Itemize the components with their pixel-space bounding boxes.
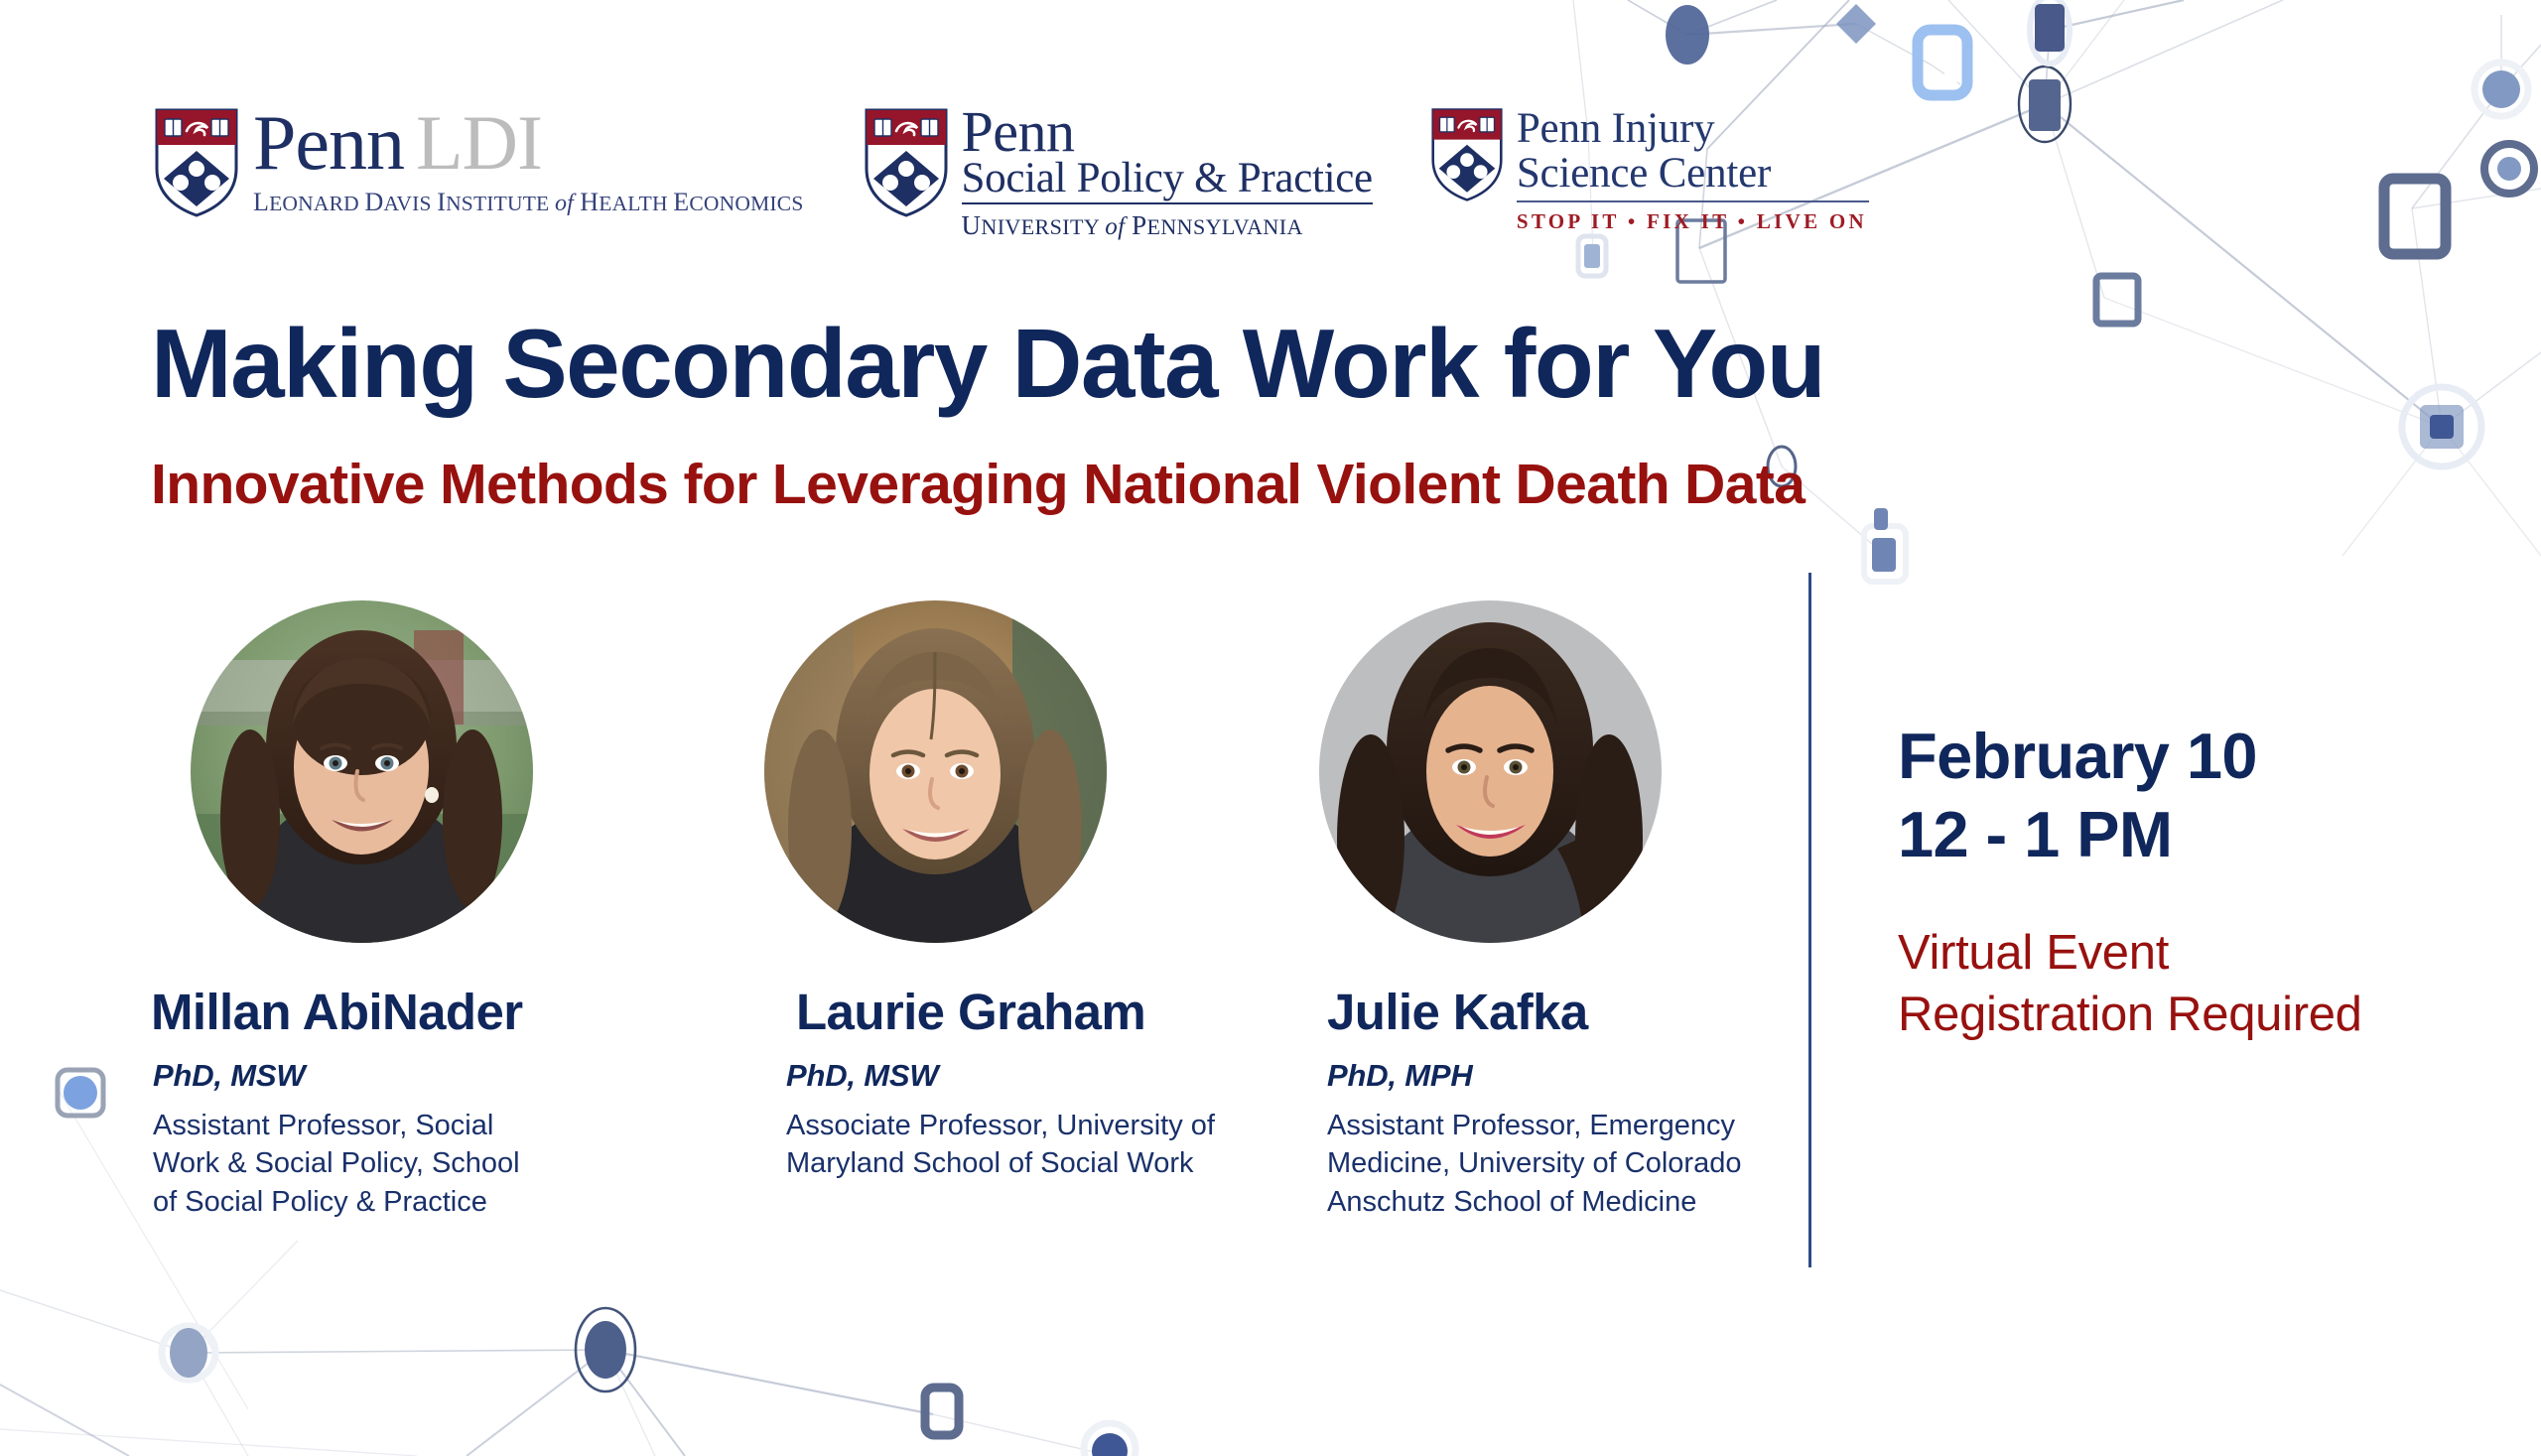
spp-university-line: UNIVERSITY of PENNSYLVANIA [962, 210, 1373, 241]
event-details: February 10 12 - 1 PM Virtual Event Regi… [1898, 717, 2362, 1046]
penn-social-policy-practice-logo[interactable]: Penn Social Policy & Practice UNIVERSITY… [864, 107, 1373, 241]
speaker-degree: PhD, MSW [786, 1058, 1287, 1094]
avatar [1319, 600, 1662, 943]
event-time: 12 - 1 PM [1898, 795, 2362, 873]
speaker-degree: PhD, MPH [1327, 1058, 1804, 1094]
speaker-name: Laurie Graham [796, 983, 1287, 1041]
penn-shield-icon [864, 107, 949, 223]
speaker-affiliation: Assistant Professor, Emergency Medicine,… [1327, 1107, 1794, 1221]
event-format: Virtual Event [1898, 922, 2362, 985]
speaker-name: Millan AbiNader [151, 983, 727, 1041]
ldi-wordmark-ldi: LDI [416, 99, 542, 186]
spp-wordmark-unit: Social Policy & Practice [962, 157, 1373, 204]
speaker-card: Julie Kafka PhD, MPH Assistant Professor… [1287, 600, 1804, 1221]
page-title: Making Secondary Data Work for You [151, 308, 1824, 420]
logo-row: PennLDI LEONARD DAVIS INSTITUTE of HEALT… [154, 107, 1869, 241]
event-flyer: PennLDI LEONARD DAVIS INSTITUTE of HEALT… [0, 0, 2541, 1456]
pisc-line1: Penn Injury [1517, 107, 1869, 152]
ldi-wordmark-penn: Penn [253, 99, 404, 186]
penn-injury-science-center-logo[interactable]: Penn Injury Science Center STOP IT • FIX… [1430, 107, 1869, 234]
speaker-affiliation: Assistant Professor, Social Work & Socia… [153, 1107, 540, 1221]
penn-shield-icon [154, 107, 239, 223]
penn-shield-icon [1430, 107, 1504, 207]
speaker-card: Millan AbiNader PhD, MSW Assistant Profe… [151, 600, 727, 1221]
avatar [764, 600, 1107, 943]
page-subtitle: Innovative Methods for Leveraging Nation… [151, 452, 1805, 517]
avatar [191, 600, 533, 943]
speaker-name: Julie Kafka [1327, 983, 1804, 1041]
penn-ldi-logo[interactable]: PennLDI LEONARD DAVIS INSTITUTE of HEALT… [154, 107, 804, 223]
event-date: February 10 [1898, 717, 2362, 795]
pisc-tagline: STOP IT • FIX IT • LIVE ON [1517, 209, 1869, 234]
speaker-degree: PhD, MSW [153, 1058, 727, 1094]
speaker-list: Millan AbiNader PhD, MSW Assistant Profe… [151, 600, 1804, 1221]
speaker-card: Laurie Graham PhD, MSW Associate Profess… [727, 600, 1287, 1221]
vertical-divider [1808, 573, 1811, 1267]
spp-wordmark-penn: Penn [962, 107, 1373, 157]
event-registration: Registration Required [1898, 984, 2362, 1046]
speaker-affiliation: Associate Professor, University of Maryl… [786, 1107, 1223, 1183]
pisc-line2: Science Center [1517, 152, 1869, 197]
ldi-tagline: LEONARD DAVIS INSTITUTE of HEALTH ECONOM… [253, 188, 804, 217]
pisc-rule [1517, 200, 1869, 202]
